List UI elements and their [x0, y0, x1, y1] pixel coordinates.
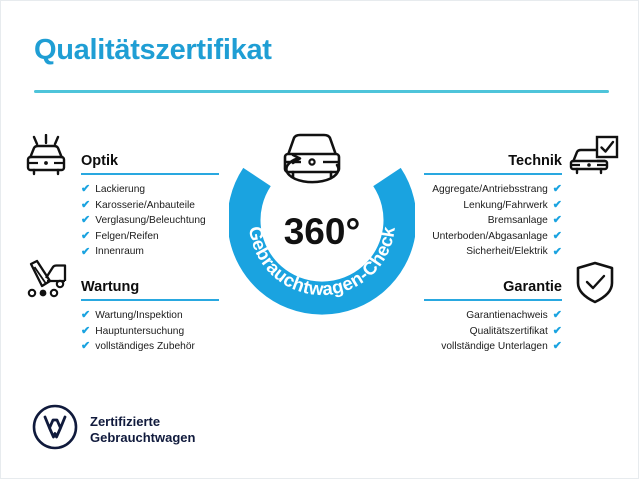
footer-brand: Zertifizierte Gebrauchtwagen	[32, 404, 195, 455]
list-item: ✔ Wartung/Inspektion	[81, 308, 219, 324]
check-icon: ✔	[553, 310, 562, 321]
check-icon: ✔	[553, 184, 562, 195]
check-icon: ✔	[553, 215, 562, 226]
section-garantie-header: Garantie	[424, 271, 562, 301]
section-wartung-header: Wartung	[81, 271, 219, 301]
check-icon: ✔	[81, 231, 90, 242]
check-icon: ✔	[81, 247, 90, 258]
section-technik-header: Technik	[424, 145, 562, 175]
section-garantie-items: Garantienachweis ✔ Qualitätszertifikat ✔…	[424, 308, 562, 355]
check-icon: ✔	[81, 310, 90, 321]
list-item-label: Qualitätszertifikat	[470, 324, 548, 340]
section-garantie: Garantie Garantienachweis ✔ Qualitätszer…	[424, 271, 562, 355]
list-item-label: Garantienachweis	[466, 308, 548, 324]
list-item-label: Verglasung/Beleuchtung	[95, 213, 205, 229]
list-item: ✔ Felgen/Reifen	[81, 229, 219, 245]
list-item: Garantienachweis ✔	[424, 308, 562, 324]
section-optik-header: Optik	[81, 145, 219, 175]
list-item: vollständige Unterlagen ✔	[424, 339, 562, 355]
footer-text: Zertifizierte Gebrauchtwagen	[90, 414, 195, 446]
section-garantie-title: Garantie	[503, 279, 562, 295]
section-technik: Technik Aggregate/Antriebsstrang ✔ Lenku…	[424, 145, 562, 260]
list-item: ✔ Verglasung/Beleuchtung	[81, 213, 219, 229]
pen-service-car-icon	[20, 259, 72, 306]
list-item: Bremsanlage ✔	[424, 213, 562, 229]
list-item: ✔ Lackierung	[81, 182, 219, 198]
list-item: Sicherheit/Elektrik ✔	[424, 244, 562, 260]
check-icon: ✔	[553, 200, 562, 211]
check-icon: ✔	[553, 341, 562, 352]
list-item-label: Aggregate/Antriebsstrang	[432, 182, 548, 198]
check-icon: ✔	[81, 215, 90, 226]
section-technik-title: Technik	[508, 153, 562, 169]
list-item: ✔ Karosserie/Anbauteile	[81, 198, 219, 214]
footer-line-2: Gebrauchtwagen	[90, 430, 195, 446]
section-optik-title: Optik	[81, 153, 118, 169]
check-icon: ✔	[81, 326, 90, 337]
list-item: Aggregate/Antriebsstrang ✔	[424, 182, 562, 198]
list-item: ✔ Innenraum	[81, 244, 219, 260]
list-item-label: Unterboden/Abgasanlage	[432, 229, 548, 245]
check-icon: ✔	[553, 247, 562, 258]
list-item-label: Wartung/Inspektion	[95, 308, 182, 324]
section-optik: Optik ✔ Lackierung ✔ Karosserie/Anbautei…	[81, 145, 219, 260]
section-wartung-underline	[81, 299, 219, 301]
list-item-label: vollständiges Zubehör	[95, 339, 195, 355]
list-item-label: Lenkung/Fahrwerk	[463, 198, 547, 214]
list-item: Unterboden/Abgasanlage ✔	[424, 229, 562, 245]
badge-360-gebrauchtwagen-check: Gebrauchtwagen-Check 360°	[229, 119, 415, 315]
shield-check-icon	[573, 260, 617, 311]
car-rotation-360-icon	[285, 135, 339, 182]
list-item-label: Bremsanlage	[488, 213, 548, 229]
list-item-label: Felgen/Reifen	[95, 229, 158, 245]
section-garantie-underline	[424, 299, 562, 301]
section-wartung-items: ✔ Wartung/Inspektion ✔ Hauptuntersuchung…	[81, 308, 219, 355]
list-item-label: Karosserie/Anbauteile	[95, 198, 195, 214]
check-icon: ✔	[81, 341, 90, 352]
footer-line-1: Zertifizierte	[90, 414, 195, 430]
car-front-shine-icon	[20, 134, 72, 181]
section-wartung-title: Wartung	[81, 279, 139, 295]
list-item-label: Hauptuntersuchung	[95, 324, 184, 340]
list-item: ✔ Hauptuntersuchung	[81, 324, 219, 340]
list-item: Lenkung/Fahrwerk ✔	[424, 198, 562, 214]
badge-center-label: 360°	[284, 211, 361, 252]
section-technik-underline	[424, 173, 562, 175]
section-technik-items: Aggregate/Antriebsstrang ✔ Lenkung/Fahrw…	[424, 182, 562, 260]
volkswagen-logo	[32, 404, 78, 455]
list-item-label: Innenraum	[95, 244, 144, 260]
section-optik-underline	[81, 173, 219, 175]
check-icon: ✔	[553, 231, 562, 242]
list-item-label: Lackierung	[95, 182, 145, 198]
certificate-page: Qualitätszertifikat Optik ✔ Lacki	[0, 0, 639, 479]
list-item: Qualitätszertifikat ✔	[424, 324, 562, 340]
list-item: ✔ vollständiges Zubehör	[81, 339, 219, 355]
section-wartung: Wartung ✔ Wartung/Inspektion ✔ Hauptunte…	[81, 271, 219, 355]
check-icon: ✔	[81, 200, 90, 211]
check-icon: ✔	[81, 184, 90, 195]
list-item-label: vollständige Unterlagen	[441, 339, 547, 355]
title-divider	[34, 90, 609, 93]
list-item-label: Sicherheit/Elektrik	[466, 244, 548, 260]
check-icon: ✔	[553, 326, 562, 337]
car-checkbox-icon	[567, 134, 621, 181]
page-title: Qualitätszertifikat	[34, 34, 272, 67]
section-optik-items: ✔ Lackierung ✔ Karosserie/Anbauteile ✔ V…	[81, 182, 219, 260]
